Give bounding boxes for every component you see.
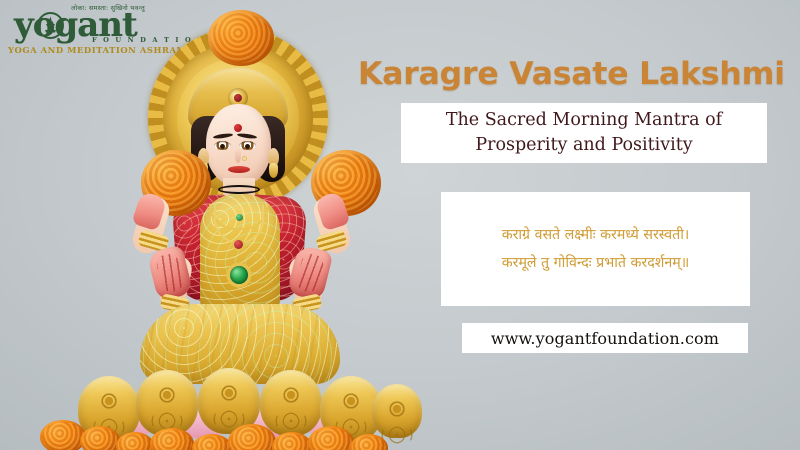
poster-title: Karagre Vasate Lakshmi — [358, 52, 798, 96]
eye-right — [239, 141, 256, 150]
mantra-box: कराग्रे वसते लक्ष्मीः करमध्ये सरस्वती। क… — [441, 192, 750, 306]
base-marigold — [40, 420, 86, 450]
nose-ring-icon — [242, 156, 247, 161]
nose — [235, 149, 241, 163]
base-marigold — [80, 426, 120, 450]
website-url[interactable]: www.yogantfoundation.com — [491, 329, 719, 348]
torso-red-gem-upper — [234, 240, 243, 249]
earring-right — [269, 163, 278, 178]
poster-canvas: लोका: समस्ता: सुखिनो भवन्तु yogant F O U… — [0, 0, 800, 450]
sanskrit-mantra-text: कराग्रे वसते लक्ष्मीः करमध्ये सरस्वती। क… — [502, 221, 690, 277]
website-url-box[interactable]: www.yogantfoundation.com — [462, 323, 748, 353]
crown-marigold-flower — [208, 10, 274, 66]
necklace-green-gem — [236, 214, 243, 221]
torso-green-gem-center — [230, 266, 248, 284]
bindi-dot — [234, 124, 242, 132]
poster-subtitle: The Sacred Morning Mantra of Prosperity … — [446, 108, 722, 158]
lips — [228, 166, 250, 173]
subtitle-box: The Sacred Morning Mantra of Prosperity … — [401, 103, 767, 163]
eye-left — [214, 141, 231, 150]
